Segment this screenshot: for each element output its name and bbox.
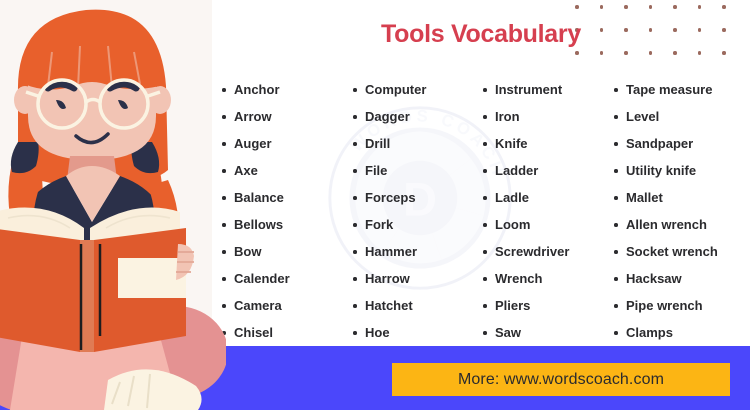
list-item: Sandpaper — [608, 130, 750, 157]
list-item: Bellows — [216, 211, 347, 238]
list-item: Computer — [347, 76, 477, 103]
list-item: Hacksaw — [608, 265, 750, 292]
more-website-button[interactable]: More: www.wordscoach.com — [392, 363, 730, 396]
list-item: Level — [608, 103, 750, 130]
list-item: Clamps — [608, 319, 750, 346]
page-title: Tools Vocabulary — [212, 20, 750, 49]
book-cover-left — [0, 228, 80, 352]
vocabulary-columns: Anchor Arrow Auger Axe Balance Bellows B… — [216, 76, 750, 338]
list-item: Utility knife — [608, 157, 750, 184]
poster-canvas: WORDS COACH D Tools Vocabulary Anchor Ar… — [0, 0, 750, 410]
list-item: File — [347, 157, 477, 184]
eyebrow-left — [48, 84, 74, 88]
list-item: Tape measure — [608, 76, 750, 103]
list-item: Ladder — [477, 157, 608, 184]
list-item: Drill — [347, 130, 477, 157]
list-item: Arrow — [216, 103, 347, 130]
list-item: Socket wrench — [608, 238, 750, 265]
list-item: Allen wrench — [608, 211, 750, 238]
vocabulary-column-3: Instrument Iron Knife Ladder Ladle Loom … — [477, 76, 608, 338]
list-item: Pliers — [477, 292, 608, 319]
vocabulary-column-2: Computer Dagger Drill File Forceps Fork … — [347, 76, 477, 338]
list-item: Chisel — [216, 319, 347, 346]
list-item: Harrow — [347, 265, 477, 292]
book-cover-label — [118, 258, 186, 298]
list-item: Forceps — [347, 184, 477, 211]
list-item: Screwdriver — [477, 238, 608, 265]
list-item: Dagger — [347, 103, 477, 130]
list-item: Hammer — [347, 238, 477, 265]
list-item: Ladle — [477, 184, 608, 211]
list-item: Knife — [477, 130, 608, 157]
list-item: Auger — [216, 130, 347, 157]
more-website-label: More: www.wordscoach.com — [458, 371, 664, 389]
list-item: Anchor — [216, 76, 347, 103]
list-item: Camera — [216, 292, 347, 319]
list-item: Loom — [477, 211, 608, 238]
eyebrow-right — [110, 84, 136, 88]
list-item: Bow — [216, 238, 347, 265]
list-item: Calender — [216, 265, 347, 292]
list-item: Saw — [477, 319, 608, 346]
list-item: Hoe — [347, 319, 477, 346]
list-item: Hatchet — [347, 292, 477, 319]
list-item: Iron — [477, 103, 608, 130]
vocabulary-column-4: Tape measure Level Sandpaper Utility kni… — [608, 76, 750, 338]
list-item: Balance — [216, 184, 347, 211]
list-item: Fork — [347, 211, 477, 238]
list-item: Pipe wrench — [608, 292, 750, 319]
girl-reading-book-illustration — [0, 0, 226, 410]
list-item: Instrument — [477, 76, 608, 103]
list-item: Wrench — [477, 265, 608, 292]
list-item: Mallet — [608, 184, 750, 211]
list-item: Axe — [216, 157, 347, 184]
vocabulary-column-1: Anchor Arrow Auger Axe Balance Bellows B… — [216, 76, 347, 338]
